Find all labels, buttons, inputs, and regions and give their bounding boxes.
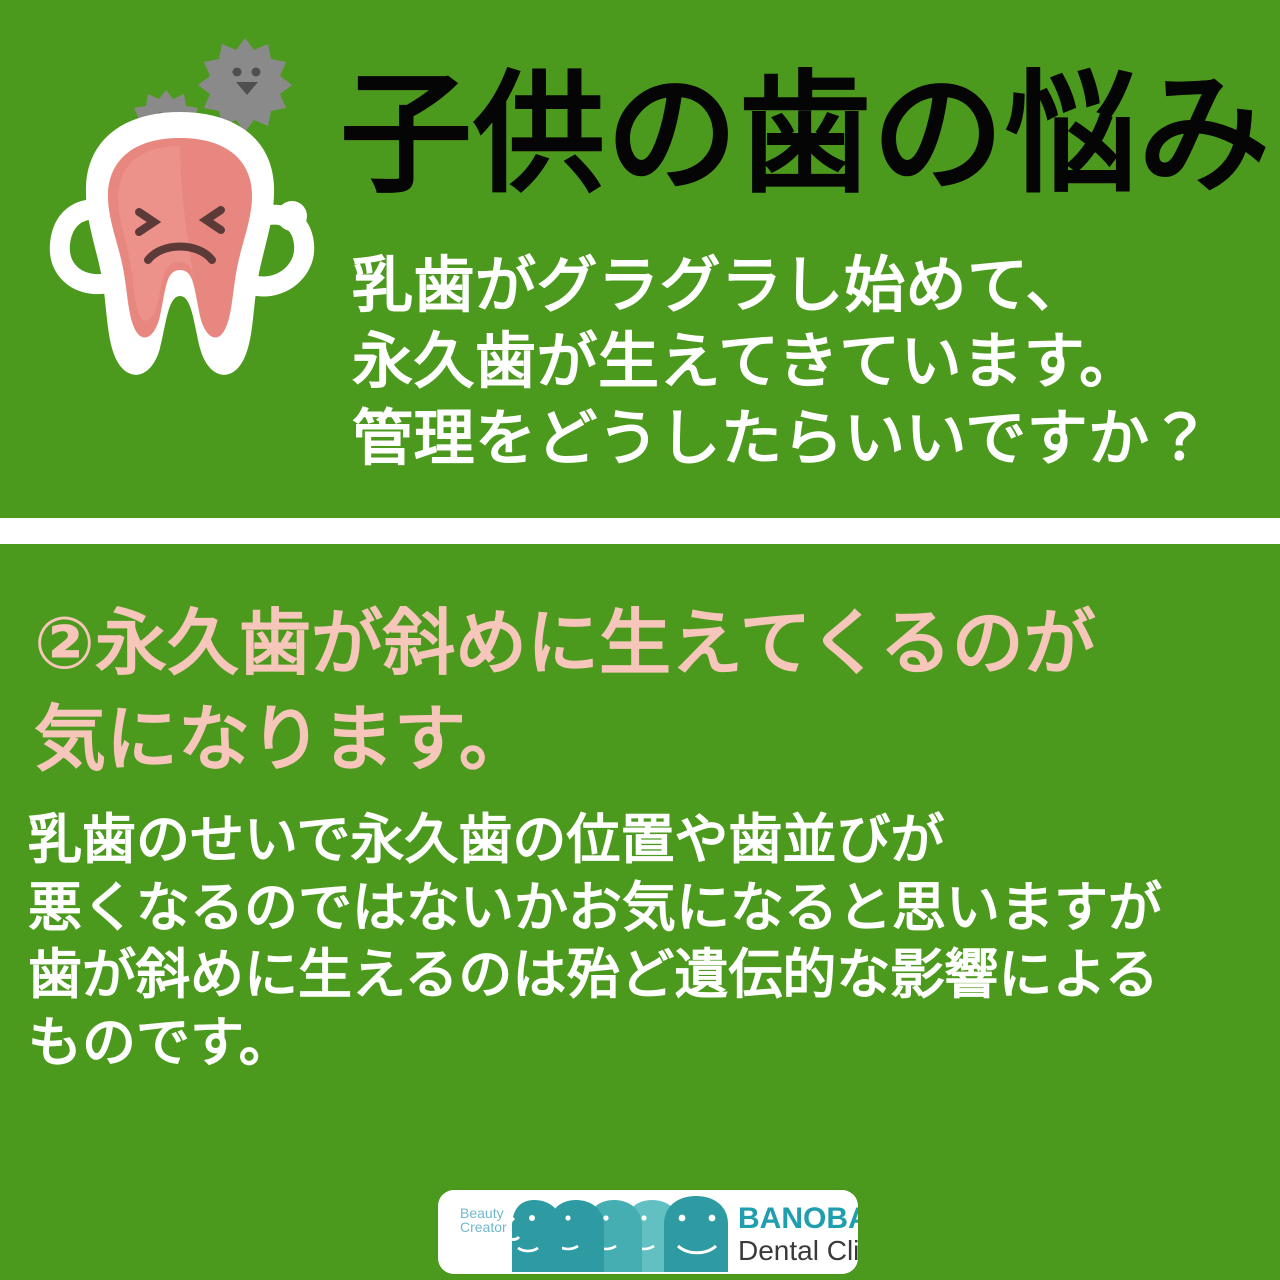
poster-canvas: 子供の歯の悩み 乳歯がグラグラし始めて、 永久歯が生えてきています。 管理をどう… [0,0,1280,1280]
page-title: 子供の歯の悩み [340,68,1270,203]
section-heading: ②永久歯が斜めに生えてくるのが 気になります。 [34,596,1254,788]
logo-tagline-line2: Creator [460,1219,507,1235]
body-line-2: 悪くなるのではないかお気になると思いますが [28,874,1268,942]
subtitle-line-2: 永久歯が生えてきています。 [352,324,1252,400]
heading-line-1: ②永久歯が斜めに生えてくるのが [34,596,1254,692]
body-line-4: ものです。 [28,1009,1268,1077]
logo-brand-name: BANOBAGI [738,1202,858,1235]
top-section: 子供の歯の悩み 乳歯がグラグラし始めて、 永久歯が生えてきています。 管理をどう… [0,0,1280,518]
sad-tooth-mascot [30,20,330,400]
subtitle-line-3: 管理をどうしたらいいですか？ [352,401,1252,477]
heading-line-2: 気になります。 [34,692,1254,788]
subtitle-block: 乳歯がグラグラし始めて、 永久歯が生えてきています。 管理をどうしたらいいですか… [352,248,1252,477]
logo-brand-subtitle: Dental Clinic [738,1235,858,1266]
body-copy: 乳歯のせいで永久歯の位置や歯並びが 悪くなるのではないかお気になると思いますが … [28,806,1268,1076]
section-divider [0,518,1280,544]
subtitle-line-1: 乳歯がグラグラし始めて、 [352,248,1252,324]
banobagi-logo[interactable]: Beauty Creator [438,1190,858,1274]
body-line-3: 歯が斜めに生えるのは殆ど遺伝的な影響による [28,941,1268,1009]
body-line-1: 乳歯のせいで永久歯の位置や歯並びが [28,806,1268,874]
bottom-section: ②永久歯が斜めに生えてくるのが 気になります。 乳歯のせいで永久歯の位置や歯並び… [0,544,1280,1280]
profile-face-icon-front [664,1196,728,1272]
